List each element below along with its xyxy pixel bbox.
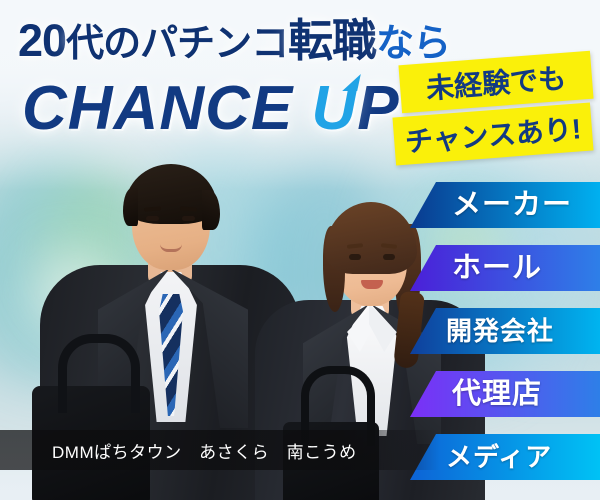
- logo-letter-u: U: [311, 78, 357, 140]
- category-label: 開発会社: [446, 318, 554, 344]
- brand-logo: CHANCE UP: [22, 78, 400, 140]
- headline-text-primary: 代のパチンコ: [66, 23, 288, 65]
- female-eye: [383, 254, 395, 260]
- promo-badge-line-2: チャンスあり!: [392, 102, 593, 165]
- headline-number: 20: [18, 15, 66, 66]
- male-hair: [125, 164, 217, 224]
- promo-badge-line-1-text: 未経験でも: [425, 57, 568, 108]
- female-hair: [325, 202, 417, 274]
- briefcase-handle: [58, 334, 140, 413]
- category-label: メーカー: [452, 191, 572, 220]
- male-eye: [182, 216, 195, 221]
- logo-text-chance: CHANCE: [22, 74, 311, 143]
- female-eye: [349, 254, 361, 260]
- caption-bar: DMMぱちタウン あさくら 南こうめ: [0, 430, 440, 470]
- category-button-maker[interactable]: メーカー: [410, 182, 600, 228]
- headline: 20代のパチンコ転職なら: [18, 18, 450, 63]
- headline-keyword: 転職: [288, 15, 376, 66]
- advertisement-banner[interactable]: 20代のパチンコ転職なら CHANCE UP 未経験でも チャンスあり! メーカ…: [0, 0, 600, 500]
- category-label: ホール: [452, 254, 542, 283]
- promo-badge-line-2-text: チャンスあり!: [403, 107, 582, 160]
- category-button-developer[interactable]: 開発会社: [410, 308, 600, 354]
- category-button-agency[interactable]: 代理店: [410, 371, 600, 417]
- promo-badge: 未経験でも チャンスあり!: [394, 58, 594, 162]
- male-eye: [146, 216, 159, 221]
- category-label: 代理店: [452, 380, 542, 409]
- category-button-hall[interactable]: ホール: [410, 245, 600, 291]
- caption-text: DMMぱちタウン あさくら 南こうめ: [52, 438, 357, 463]
- category-label: メディア: [446, 444, 552, 470]
